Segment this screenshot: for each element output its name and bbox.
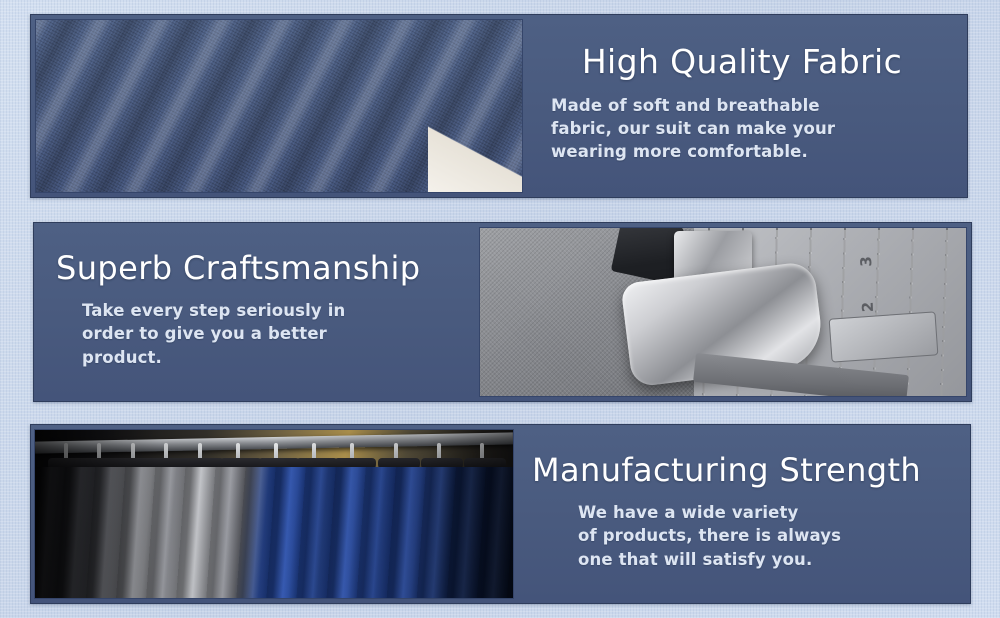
panel-2-title: Superb Craftsmanship xyxy=(56,251,420,286)
panel-2-description-line-3: product. xyxy=(82,348,162,367)
feature-panel-high-quality-fabric: High Quality Fabric Made of soft and bre… xyxy=(30,14,968,198)
rack-vignette xyxy=(35,430,513,598)
panel-3-description: We have a wide variety of products, ther… xyxy=(578,501,841,571)
panel-3-description-line-2: of products, there is always xyxy=(578,526,841,545)
suit-rack-photo xyxy=(34,429,514,599)
panel-3-title: Manufacturing Strength xyxy=(532,453,921,488)
panel-2-description-line-1: Take every step seriously in xyxy=(82,301,345,320)
needle-plate-numbers: 2 3 4 xyxy=(855,227,877,312)
panel-3-description-line-3: one that will satisfy you. xyxy=(578,550,812,569)
panel-1-text-block: High Quality Fabric Made of soft and bre… xyxy=(523,15,967,197)
panel-1-description-line-3: wearing more comfortable. xyxy=(551,142,808,161)
fabric-white-corner xyxy=(428,122,523,193)
feature-panel-superb-craftsmanship: 2 3 4 Superb Craftsmanship Take every st… xyxy=(33,222,972,402)
panel-1-description-line-1: Made of soft and breathable xyxy=(551,96,820,115)
panel-1-title: High Quality Fabric xyxy=(582,44,902,80)
panel-1-description: Made of soft and breathable fabric, our … xyxy=(551,94,835,164)
sewing-scene: 2 3 4 xyxy=(480,228,966,396)
panel-2-description: Take every step seriously in order to gi… xyxy=(82,299,345,369)
panel-3-description-line-1: We have a wide variety xyxy=(578,503,798,522)
plate-number-2: 2 xyxy=(859,300,877,312)
panel-2-description-line-2: order to give you a better xyxy=(82,324,327,343)
panel-2-text-block: Superb Craftsmanship Take every step ser… xyxy=(34,223,479,401)
fabric-rolls-photo xyxy=(35,19,523,193)
rack-background xyxy=(35,430,513,598)
seam-guide xyxy=(829,312,939,363)
sewing-machine-photo: 2 3 4 xyxy=(479,227,967,397)
panel-1-description-line-2: fabric, our suit can make your xyxy=(551,119,835,138)
plate-number-3: 3 xyxy=(857,254,875,266)
feature-panel-manufacturing-strength: Manufacturing Strength We have a wide va… xyxy=(30,424,971,604)
panel-3-text-block: Manufacturing Strength We have a wide va… xyxy=(514,425,970,603)
